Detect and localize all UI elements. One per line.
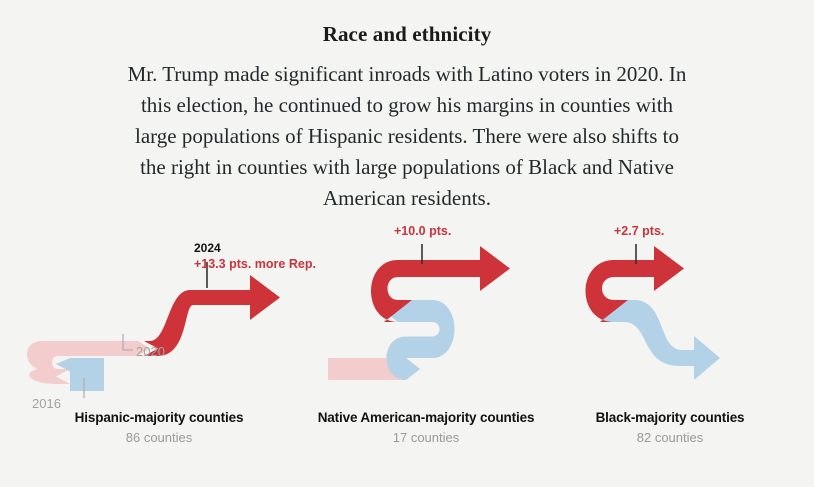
chart-native-american-sublabel: 17 counties — [310, 430, 542, 445]
annotation-2024-value: +2.7 pts. — [614, 224, 664, 238]
chart-hispanic-sublabel: 86 counties — [18, 430, 300, 445]
ribbon-2016-2020-blue — [600, 300, 720, 380]
header: Race and ethnicity Mr. Trump made signif… — [0, 0, 814, 214]
chart-hispanic-label: Hispanic-majority counties — [18, 410, 300, 425]
chart-hispanic-graphic: 2024 +13.3 pts. more Rep. 2020 2016 — [18, 238, 300, 406]
chart-black-graphic: +2.7 pts. — [554, 238, 786, 406]
chart-native-american-graphic: +10.0 pts. — [310, 238, 542, 406]
charts-row: 2024 +13.3 pts. more Rep. 2020 2016 Hisp… — [0, 238, 814, 445]
chart-native-american-majority-counties[interactable]: +10.0 pts. Native American-majority coun… — [310, 238, 542, 445]
arrow-2016-dem-blue — [56, 358, 104, 391]
chart-native-american-label: Native American-majority counties — [310, 410, 542, 425]
annotation-2020-label: 2020 — [136, 344, 165, 359]
annotation-2024-year: 2024 — [194, 241, 221, 255]
annotation-2024-value: +13.3 pts. more Rep. — [194, 257, 316, 271]
annotation-2016-label: 2016 — [32, 396, 61, 411]
chart-hispanic-majority-counties[interactable]: 2024 +13.3 pts. more Rep. 2020 2016 Hisp… — [18, 238, 300, 445]
section-description: Mr. Trump made significant inroads with … — [120, 59, 694, 214]
chart-black-majority-counties[interactable]: +2.7 pts. Black-majority counties 82 cou… — [554, 238, 786, 445]
page-title: Race and ethnicity — [0, 22, 814, 47]
race-and-ethnicity-panel: Race and ethnicity Mr. Trump made signif… — [0, 0, 814, 487]
chart-black-sublabel: 82 counties — [554, 430, 786, 445]
annotation-2024-value: +10.0 pts. — [394, 224, 451, 238]
chart-black-label: Black-majority counties — [554, 410, 786, 425]
